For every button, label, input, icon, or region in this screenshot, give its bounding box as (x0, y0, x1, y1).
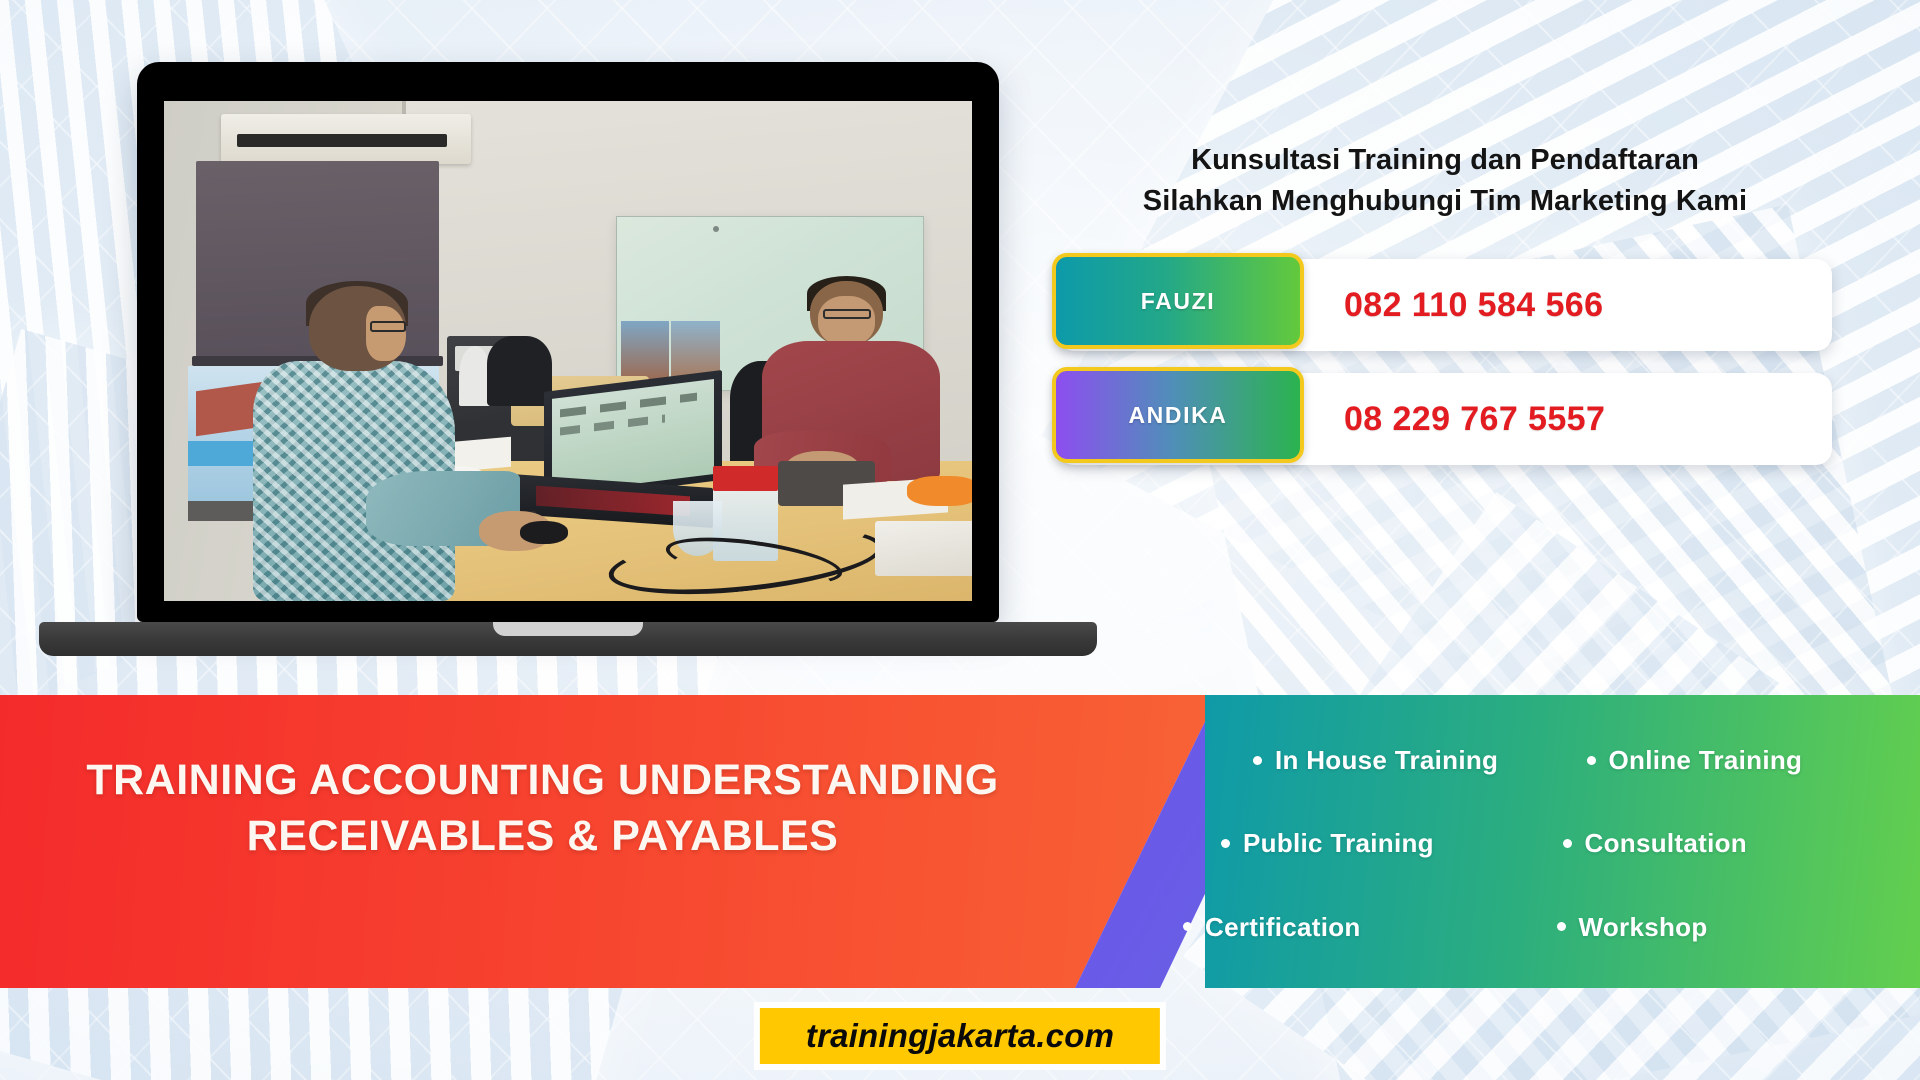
course-title-line-1: TRAINING ACCOUNTING UNDERSTANDING (0, 753, 1085, 809)
projector (875, 521, 972, 576)
contact-card-list: FAUZI 082 110 584 566 ANDIKA 08 229 767 … (1010, 259, 1880, 465)
laptop-mockup (137, 62, 999, 652)
promo-banner: TRAINING ACCOUNTING UNDERSTANDING RECEIV… (0, 695, 1920, 988)
service-label: Consultation (1585, 828, 1747, 858)
service-label: Certification (1205, 912, 1361, 942)
laptop-base (39, 622, 1097, 656)
service-item-consultation: Consultation (1563, 828, 1920, 859)
bullet-icon (1587, 756, 1596, 765)
course-title-line-2: RECEIVABLES & PAYABLES (0, 809, 1085, 865)
service-item-public-training: Public Training (1205, 828, 1563, 859)
service-label: In House Training (1275, 745, 1498, 775)
bullet-icon (1253, 756, 1262, 765)
service-label: Online Training (1609, 745, 1803, 775)
bullet-icon (1221, 839, 1230, 848)
service-item-in-house-training: In House Training (1205, 745, 1563, 776)
air-conditioner-vent (237, 134, 447, 147)
bullet-icon (1557, 922, 1566, 931)
service-label: Public Training (1243, 828, 1434, 858)
contact-name-fauzi: FAUZI (1141, 288, 1215, 315)
bullet-icon (1563, 839, 1572, 848)
orange-cloth (907, 476, 972, 506)
bullet-icon (1183, 922, 1192, 931)
course-title: TRAINING ACCOUNTING UNDERSTANDING RECEIV… (0, 753, 1085, 865)
website-badge-inner: trainingjakarta.com (760, 1008, 1160, 1064)
website-url: trainingjakarta.com (806, 1017, 1114, 1054)
service-item-certification: Certification (1183, 912, 1563, 943)
laptop-lid (137, 62, 999, 622)
contact-name-andika: ANDIKA (1128, 402, 1227, 429)
participant-glasses (823, 309, 871, 319)
service-item-workshop: Workshop (1557, 912, 1920, 943)
whiteboard-photo-1 (621, 321, 669, 381)
trainer-glasses (370, 321, 406, 332)
service-label: Workshop (1579, 912, 1708, 942)
contact-name-tag-fauzi: FAUZI (1052, 253, 1304, 349)
contact-card-andika[interactable]: ANDIKA 08 229 767 5557 (1058, 373, 1832, 465)
computer-mouse (520, 521, 568, 544)
chair-black-back (487, 336, 552, 406)
contact-phone-fauzi[interactable]: 082 110 584 566 (1344, 286, 1603, 325)
laptop-base-notch (493, 622, 643, 636)
contact-heading-line-1: Kunsultasi Training dan Pendaftaran (1010, 140, 1880, 181)
contact-panel: Kunsultasi Training dan Pendaftaran Sila… (1010, 140, 1880, 487)
contact-phone-andika[interactable]: 08 229 767 5557 (1344, 400, 1605, 439)
contact-card-fauzi[interactable]: FAUZI 082 110 584 566 (1058, 259, 1832, 351)
service-item-online-training: Online Training (1563, 745, 1920, 776)
website-badge[interactable]: trainingjakarta.com (754, 1002, 1166, 1070)
contact-heading-line-2: Silahkan Menghubungi Tim Marketing Kami (1010, 181, 1880, 222)
water-jar-lid (713, 466, 778, 491)
contact-name-tag-andika: ANDIKA (1052, 367, 1304, 463)
participant-face (818, 296, 875, 346)
services-list: In House Training Online Training Public… (1205, 719, 1920, 969)
training-session-photo (164, 101, 972, 601)
contact-heading: Kunsultasi Training dan Pendaftaran Sila… (1010, 140, 1880, 221)
laptop-screen (164, 101, 972, 601)
